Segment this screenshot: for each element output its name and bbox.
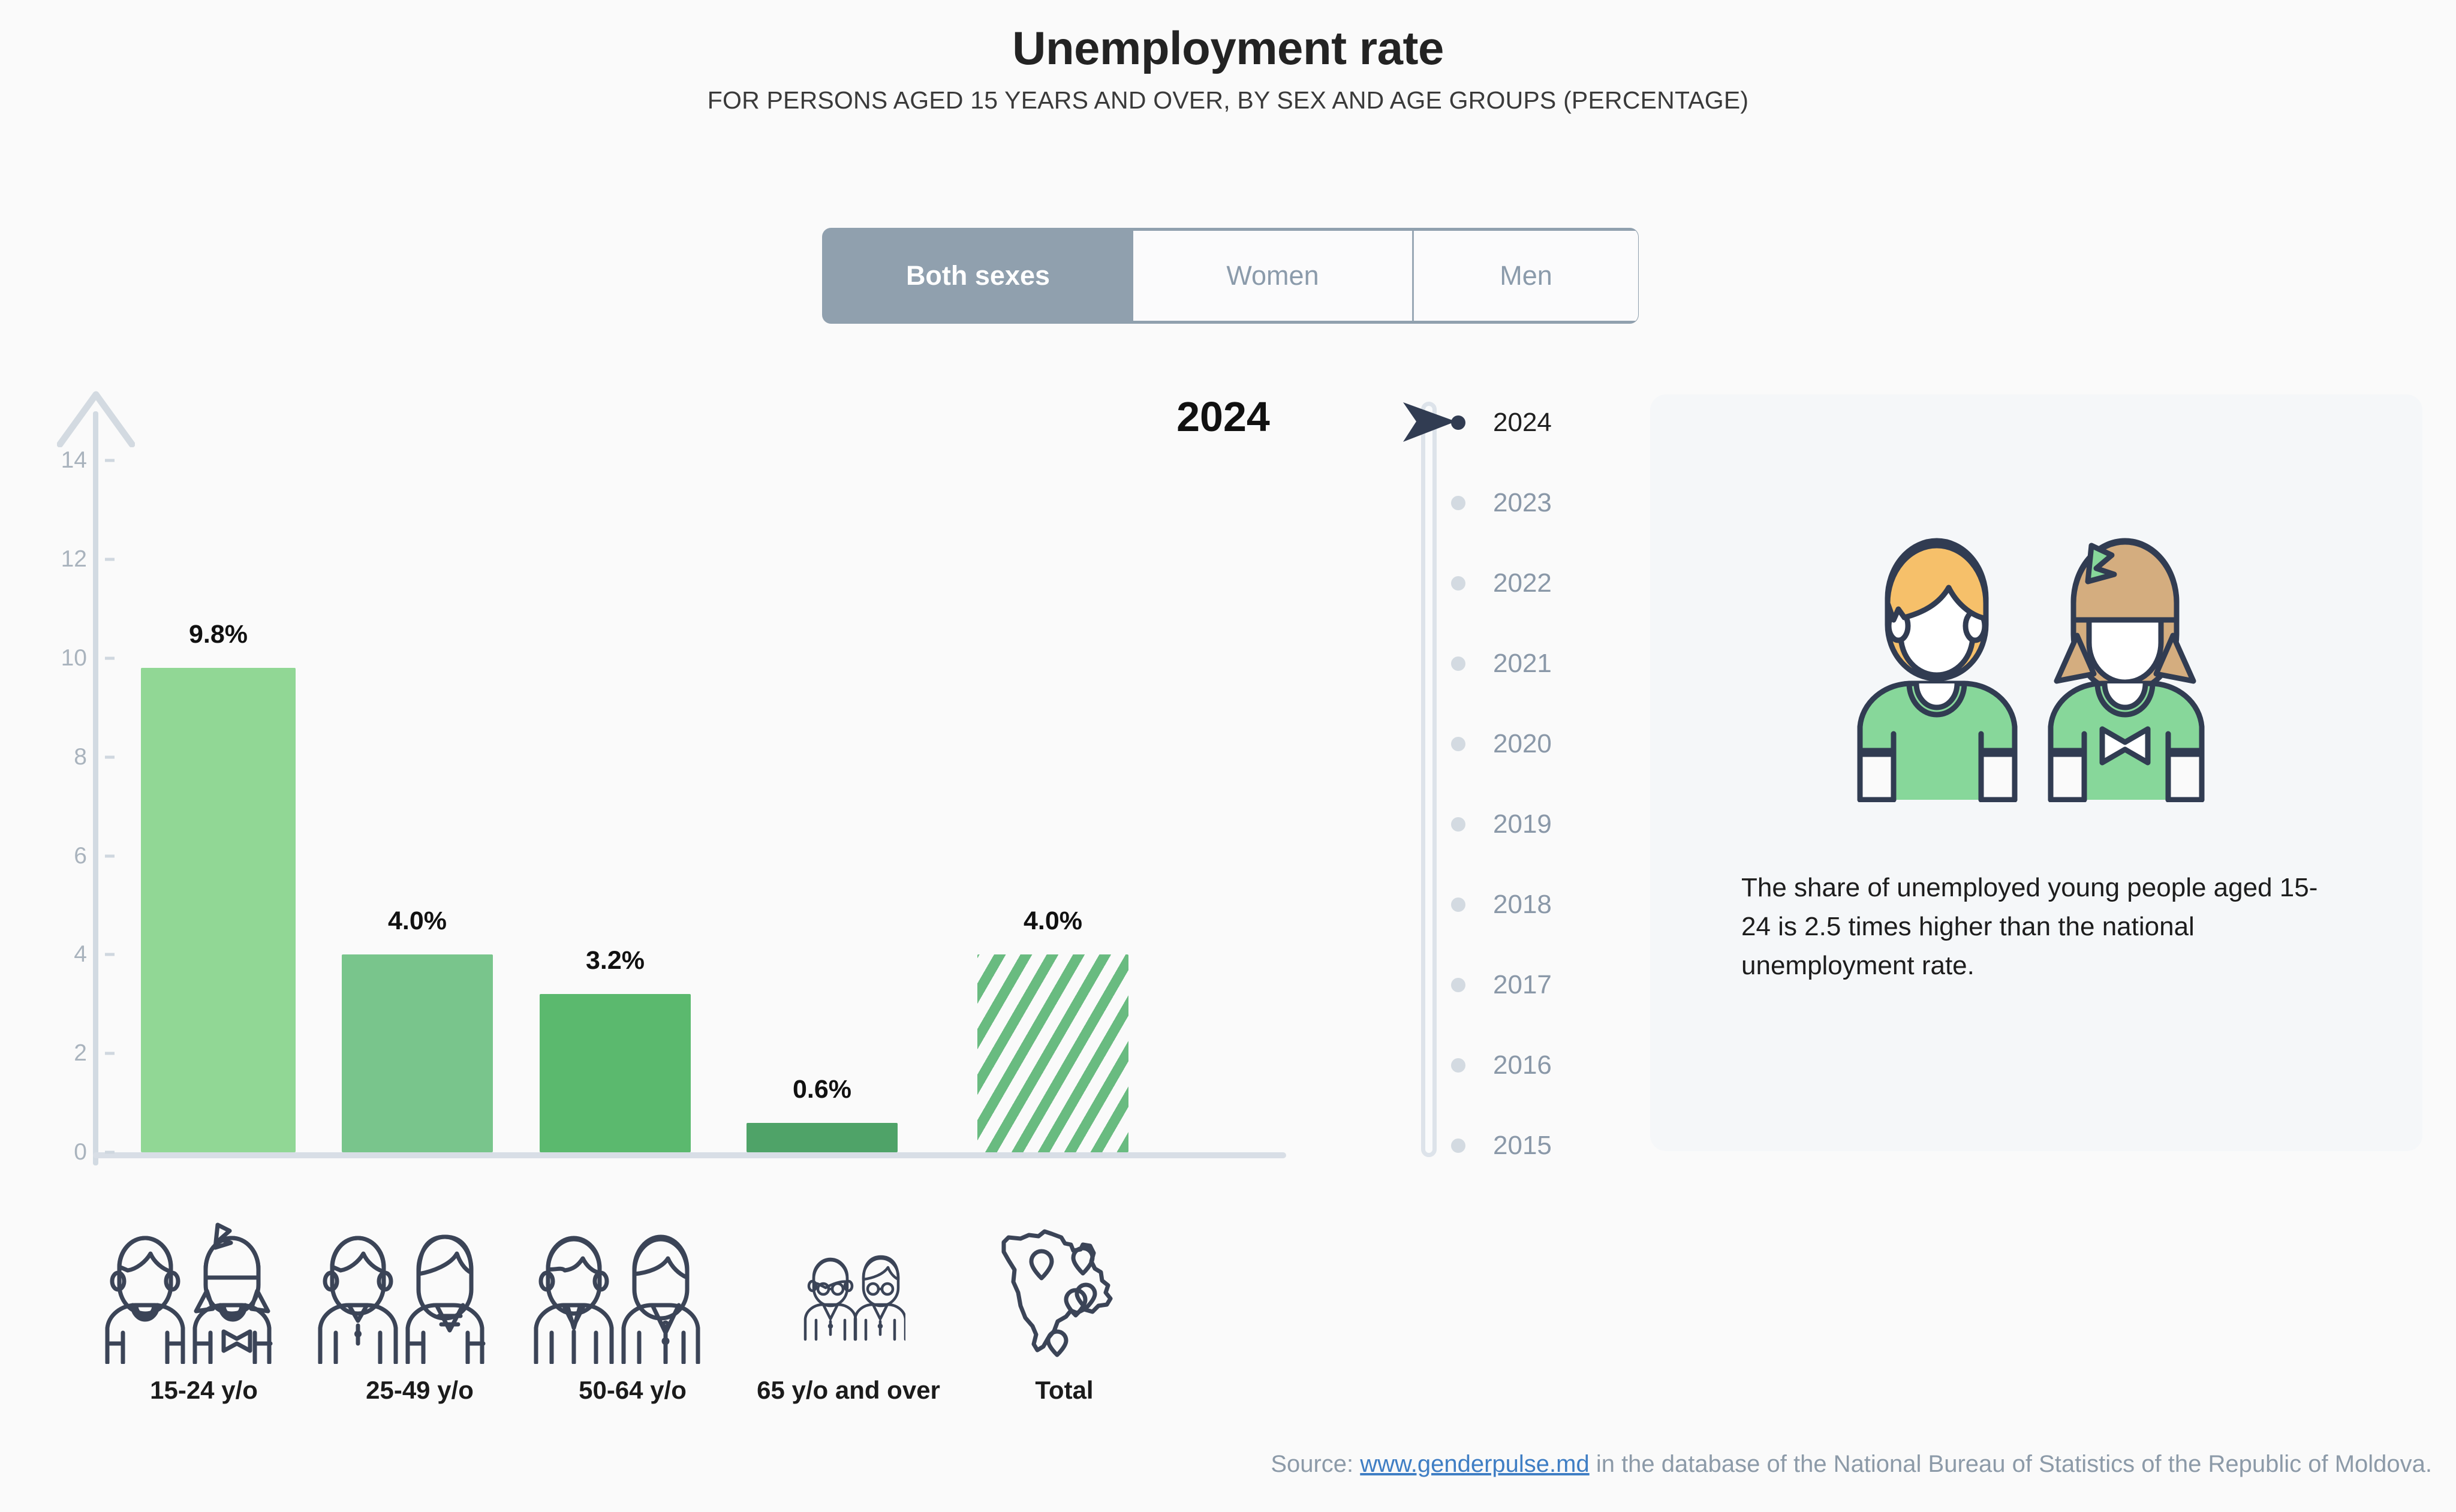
year-dot <box>1451 496 1465 510</box>
adult-couple-icon <box>312 1214 486 1364</box>
year-dot <box>1451 1058 1465 1073</box>
bar-value-label: 0.6% <box>793 1075 851 1104</box>
y-axis-tick-label: 14 <box>24 447 87 474</box>
year-dot <box>1451 737 1465 751</box>
info-card-text: The share of unemployed young people age… <box>1741 868 2341 985</box>
y-axis-tick-label: 12 <box>24 546 87 573</box>
sex-tab-group[interactable]: Both sexes Women Men <box>823 228 1638 323</box>
category-labels: 15-24 y/o25-49 y/o50-64 y/o65 y/o and ov… <box>0 1376 1349 1418</box>
y-axis-tick-label: 8 <box>24 744 87 770</box>
bar-25-49-y-o[interactable] <box>342 954 493 1152</box>
info-card: The share of unemployed young people age… <box>1650 394 2422 1151</box>
bar-value-label: 3.2% <box>586 946 645 975</box>
y-axis-tick-mark <box>105 953 115 956</box>
year-dot <box>1451 576 1465 591</box>
moldova-map-icon <box>988 1211 1117 1364</box>
source-link[interactable]: www.genderpulse.md <box>1360 1451 1589 1477</box>
year-label: 2016 <box>1493 1050 1552 1080</box>
bar-chart: 02468101214 9.8%4.0%3.2%0.6%4.0% <box>0 372 1349 1163</box>
tab-both-sexes[interactable]: Both sexes <box>823 228 1133 323</box>
year-label: 2017 <box>1493 970 1552 1000</box>
year-dot <box>1451 415 1465 430</box>
x-axis-line <box>93 1152 1286 1158</box>
year-label: 2024 <box>1493 408 1552 438</box>
y-axis-tick-mark <box>105 1151 115 1154</box>
young-couple-icon <box>99 1214 273 1364</box>
boy-and-girl-illustration <box>1852 508 2235 802</box>
year-label: 2022 <box>1493 568 1552 598</box>
category-label: 65 y/o and over <box>757 1376 940 1405</box>
year-label: 2015 <box>1493 1131 1552 1161</box>
header: Unemployment rate FOR PERSONS AGED 15 YE… <box>0 24 2456 115</box>
year-dot <box>1451 656 1465 671</box>
bar-value-label: 9.8% <box>189 620 248 649</box>
year-timeline[interactable]: 2024202320222021202020192018201720162015 <box>1397 384 1649 1175</box>
category-icons-row <box>0 1184 1349 1364</box>
bar-65-y-o-and-over[interactable] <box>747 1123 898 1152</box>
bar-50-64-y-o[interactable] <box>540 994 691 1152</box>
bar-total[interactable] <box>977 954 1128 1152</box>
y-axis-tick-mark <box>105 1052 115 1055</box>
year-dot <box>1451 817 1465 832</box>
y-axis-tick-mark <box>105 755 115 758</box>
page-subtitle: FOR PERSONS AGED 15 YEARS AND OVER, BY S… <box>0 86 2456 115</box>
y-axis-tick-label: 10 <box>24 645 87 671</box>
y-axis-tick-label: 0 <box>24 1139 87 1165</box>
category-label: 15-24 y/o <box>150 1376 258 1405</box>
source-prefix: Source: <box>1271 1451 1360 1477</box>
page-title: Unemployment rate <box>0 24 2456 73</box>
year-label: 2020 <box>1493 729 1552 759</box>
year-label: 2023 <box>1493 488 1552 518</box>
y-axis-tick-label: 6 <box>24 843 87 869</box>
y-axis-tick-label: 4 <box>24 941 87 968</box>
y-axis-tick-mark <box>105 657 115 660</box>
tab-men[interactable]: Men <box>1414 231 1638 321</box>
mature-couple-icon <box>528 1214 702 1364</box>
elderly-couple-icon <box>800 1248 905 1353</box>
source-suffix: in the database of the National Bureau o… <box>1590 1451 2432 1477</box>
year-label: 2021 <box>1493 649 1552 679</box>
bar-15-24-y-o[interactable] <box>141 668 296 1152</box>
y-axis-tick-label: 2 <box>24 1040 87 1067</box>
bar-value-label: 4.0% <box>388 906 447 936</box>
tab-women[interactable]: Women <box>1133 231 1414 321</box>
year-dot <box>1451 978 1465 992</box>
y-axis-tick-mark <box>105 459 115 462</box>
year-label: 2018 <box>1493 890 1552 920</box>
y-axis-line <box>93 411 98 1165</box>
year-label: 2019 <box>1493 809 1552 839</box>
y-axis-tick-mark <box>105 854 115 857</box>
bar-value-label: 4.0% <box>1024 906 1082 936</box>
category-label: 25-49 y/o <box>366 1376 474 1405</box>
category-label: 50-64 y/o <box>579 1376 687 1405</box>
source-footer: Source: www.genderpulse.md in the databa… <box>0 1451 2432 1478</box>
year-dot <box>1451 897 1465 912</box>
year-dot <box>1451 1138 1465 1153</box>
y-axis-tick-mark <box>105 558 115 561</box>
category-label: Total <box>1035 1376 1093 1405</box>
